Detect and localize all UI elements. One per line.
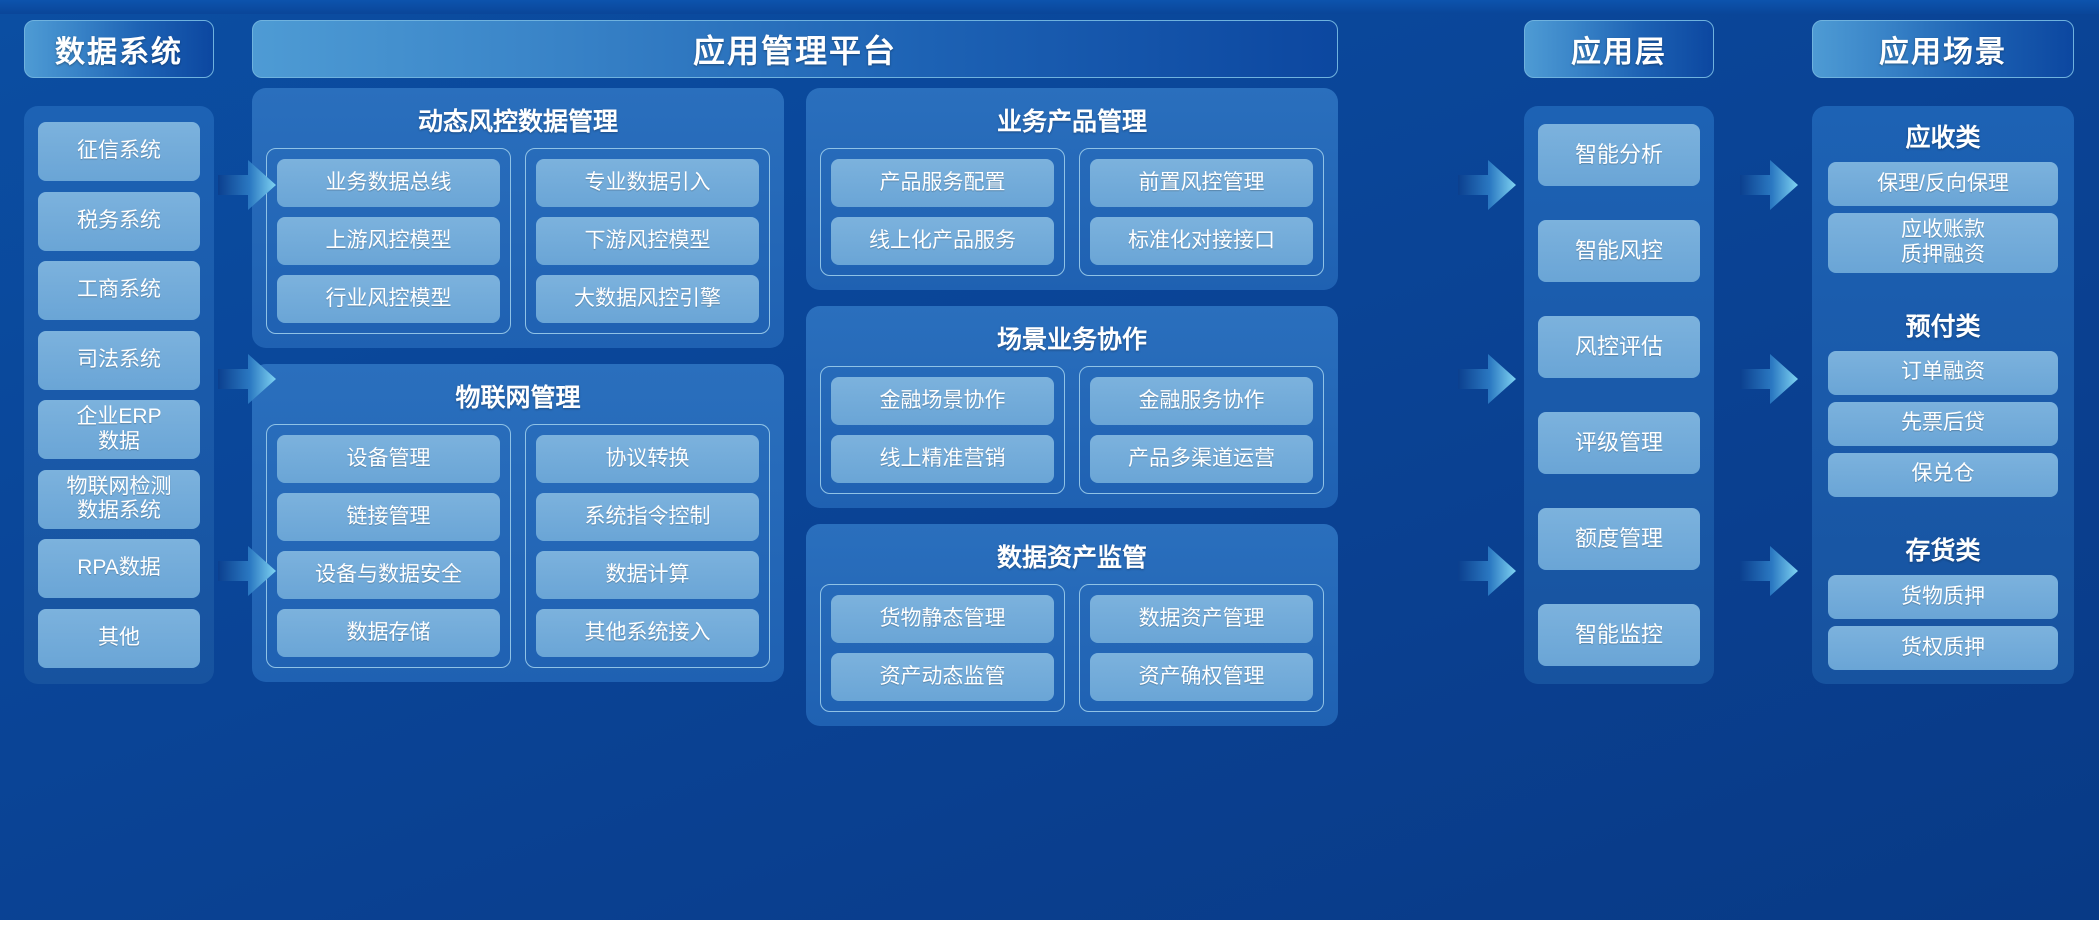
- scenario-group-title: 应收类: [1828, 118, 2058, 154]
- column-header-scenarios: 应用场景: [1812, 20, 2074, 78]
- leaf-item[interactable]: 线上化产品服务: [831, 217, 1054, 265]
- group-title: 业务产品管理: [820, 102, 1324, 138]
- right-arrow-icon: [218, 158, 276, 212]
- platform-body: 动态风控数据管理 业务数据总线 上游风控模型 行业风控模型 专业数据引入 下游风…: [252, 88, 1338, 666]
- leaf-item[interactable]: 系统指令控制: [536, 493, 759, 541]
- group-data-asset-supervision: 数据资产监管 货物静态管理 资产动态监管 数据资产管理 资产确权管理: [806, 524, 1338, 726]
- scenario-item[interactable]: 订单融资: [1828, 351, 2058, 395]
- leaf-item[interactable]: 大数据风控引擎: [536, 275, 759, 323]
- scenario-item[interactable]: 保兑仓: [1828, 453, 2058, 497]
- column-data-systems: 数据系统 征信系统 税务系统 工商系统 司法系统 企业ERP数据 物联网检测数据…: [24, 20, 214, 684]
- scenario-item[interactable]: 货物质押: [1828, 575, 2058, 619]
- right-arrow-icon: [218, 352, 276, 406]
- group-subbox-right: 金融服务协作 产品多渠道运营: [1079, 366, 1324, 494]
- leaf-item[interactable]: 其他系统接入: [536, 609, 759, 657]
- column-scenarios: 应用场景 应收类 保理/反向保理 应收账款质押融资 预付类 订单融资 先票后贷 …: [1812, 20, 2074, 684]
- leaf-item[interactable]: 协议转换: [536, 435, 759, 483]
- data-system-item[interactable]: 物联网检测数据系统: [38, 470, 200, 529]
- right-arrow-icon: [1740, 352, 1798, 406]
- leaf-item[interactable]: 设备管理: [277, 435, 500, 483]
- app-layer-item[interactable]: 额度管理: [1538, 508, 1700, 570]
- right-arrow-icon: [218, 544, 276, 598]
- data-system-item[interactable]: 工商系统: [38, 261, 200, 320]
- column-header-app-layer: 应用层: [1524, 20, 1714, 78]
- leaf-item[interactable]: 数据计算: [536, 551, 759, 599]
- right-arrow-icon: [1458, 352, 1516, 406]
- group-scenario-collaboration: 场景业务协作 金融场景协作 线上精准营销 金融服务协作 产品多渠道运营: [806, 306, 1338, 508]
- group-subbox-right: 专业数据引入 下游风控模型 大数据风控引擎: [525, 148, 770, 334]
- right-arrow-icon: [1458, 158, 1516, 212]
- right-arrow-icon: [1458, 544, 1516, 598]
- app-layer-item[interactable]: 智能分析: [1538, 124, 1700, 186]
- column-header-data-systems: 数据系统: [24, 20, 214, 78]
- leaf-item[interactable]: 上游风控模型: [277, 217, 500, 265]
- leaf-item[interactable]: 设备与数据安全: [277, 551, 500, 599]
- app-layer-item[interactable]: 智能监控: [1538, 604, 1700, 666]
- leaf-item[interactable]: 数据存储: [277, 609, 500, 657]
- group-iot-management: 物联网管理 设备管理 链接管理 设备与数据安全 数据存储 协议转换 系统指令控制…: [252, 364, 784, 682]
- scenarios-panel: 应收类 保理/反向保理 应收账款质押融资 预付类 订单融资 先票后贷 保兑仓 存…: [1812, 106, 2074, 684]
- group-title: 动态风控数据管理: [266, 102, 770, 138]
- data-system-item[interactable]: 其他: [38, 609, 200, 668]
- column-app-layer: 应用层 智能分析 智能风控 风控评估 评级管理 额度管理 智能监控: [1524, 20, 1714, 684]
- leaf-item[interactable]: 数据资产管理: [1090, 595, 1313, 643]
- group-subbox-right: 数据资产管理 资产确权管理: [1079, 584, 1324, 712]
- scenario-group-receivable: 应收类 保理/反向保理 应收账款质押融资: [1828, 116, 2058, 273]
- right-arrow-icon: [1740, 544, 1798, 598]
- group-subbox-left: 产品服务配置 线上化产品服务: [820, 148, 1065, 276]
- app-layer-item[interactable]: 评级管理: [1538, 412, 1700, 474]
- column-platform: 应用管理平台: [252, 20, 1338, 78]
- leaf-item[interactable]: 线上精准营销: [831, 435, 1054, 483]
- right-arrow-icon: [1740, 158, 1798, 212]
- data-system-item[interactable]: 税务系统: [38, 192, 200, 251]
- leaf-item[interactable]: 产品服务配置: [831, 159, 1054, 207]
- group-title: 物联网管理: [266, 378, 770, 414]
- leaf-item[interactable]: 金融服务协作: [1090, 377, 1313, 425]
- leaf-item[interactable]: 货物静态管理: [831, 595, 1054, 643]
- scenario-item[interactable]: 保理/反向保理: [1828, 162, 2058, 206]
- data-system-item[interactable]: 企业ERP数据: [38, 400, 200, 459]
- group-subbox-left: 金融场景协作 线上精准营销: [820, 366, 1065, 494]
- platform-col-left: 动态风控数据管理 业务数据总线 上游风控模型 行业风控模型 专业数据引入 下游风…: [252, 88, 784, 666]
- app-layer-panel: 智能分析 智能风控 风控评估 评级管理 额度管理 智能监控: [1524, 106, 1714, 684]
- group-subbox-right: 协议转换 系统指令控制 数据计算 其他系统接入: [525, 424, 770, 668]
- leaf-item[interactable]: 专业数据引入: [536, 159, 759, 207]
- leaf-item[interactable]: 资产确权管理: [1090, 653, 1313, 701]
- leaf-item[interactable]: 业务数据总线: [277, 159, 500, 207]
- leaf-item[interactable]: 资产动态监管: [831, 653, 1054, 701]
- app-layer-item[interactable]: 风控评估: [1538, 316, 1700, 378]
- leaf-item[interactable]: 行业风控模型: [277, 275, 500, 323]
- data-systems-panel: 征信系统 税务系统 工商系统 司法系统 企业ERP数据 物联网检测数据系统 RP…: [24, 106, 214, 684]
- diagram-canvas: 数据系统 征信系统 税务系统 工商系统 司法系统 企业ERP数据 物联网检测数据…: [0, 0, 2099, 920]
- scenario-group-prepaid: 预付类 订单融资 先票后贷 保兑仓: [1828, 305, 2058, 497]
- group-subbox-right: 前置风控管理 标准化对接接口: [1079, 148, 1324, 276]
- scenario-item[interactable]: 应收账款质押融资: [1828, 213, 2058, 273]
- data-system-item[interactable]: 司法系统: [38, 331, 200, 390]
- group-subbox-left: 货物静态管理 资产动态监管: [820, 584, 1065, 712]
- group-subbox-left: 设备管理 链接管理 设备与数据安全 数据存储: [266, 424, 511, 668]
- leaf-item[interactable]: 产品多渠道运营: [1090, 435, 1313, 483]
- scenario-item[interactable]: 先票后贷: [1828, 402, 2058, 446]
- data-system-item[interactable]: 征信系统: [38, 122, 200, 181]
- column-header-platform: 应用管理平台: [252, 20, 1338, 78]
- group-title: 数据资产监管: [820, 538, 1324, 574]
- scenario-group-title: 预付类: [1828, 307, 2058, 343]
- group-dynamic-risk-data: 动态风控数据管理 业务数据总线 上游风控模型 行业风控模型 专业数据引入 下游风…: [252, 88, 784, 348]
- scenario-group-inventory: 存货类 货物质押 货权质押: [1828, 529, 2058, 670]
- scenario-item[interactable]: 货权质押: [1828, 626, 2058, 670]
- leaf-item[interactable]: 标准化对接接口: [1090, 217, 1313, 265]
- app-layer-item[interactable]: 智能风控: [1538, 220, 1700, 282]
- data-system-item[interactable]: RPA数据: [38, 539, 200, 598]
- leaf-item[interactable]: 链接管理: [277, 493, 500, 541]
- leaf-item[interactable]: 金融场景协作: [831, 377, 1054, 425]
- leaf-item[interactable]: 前置风控管理: [1090, 159, 1313, 207]
- leaf-item[interactable]: 下游风控模型: [536, 217, 759, 265]
- group-subbox-left: 业务数据总线 上游风控模型 行业风控模型: [266, 148, 511, 334]
- scenario-group-title: 存货类: [1828, 531, 2058, 567]
- group-business-product: 业务产品管理 产品服务配置 线上化产品服务 前置风控管理 标准化对接接口: [806, 88, 1338, 290]
- group-title: 场景业务协作: [820, 320, 1324, 356]
- platform-col-right: 业务产品管理 产品服务配置 线上化产品服务 前置风控管理 标准化对接接口 场景业…: [806, 88, 1338, 666]
